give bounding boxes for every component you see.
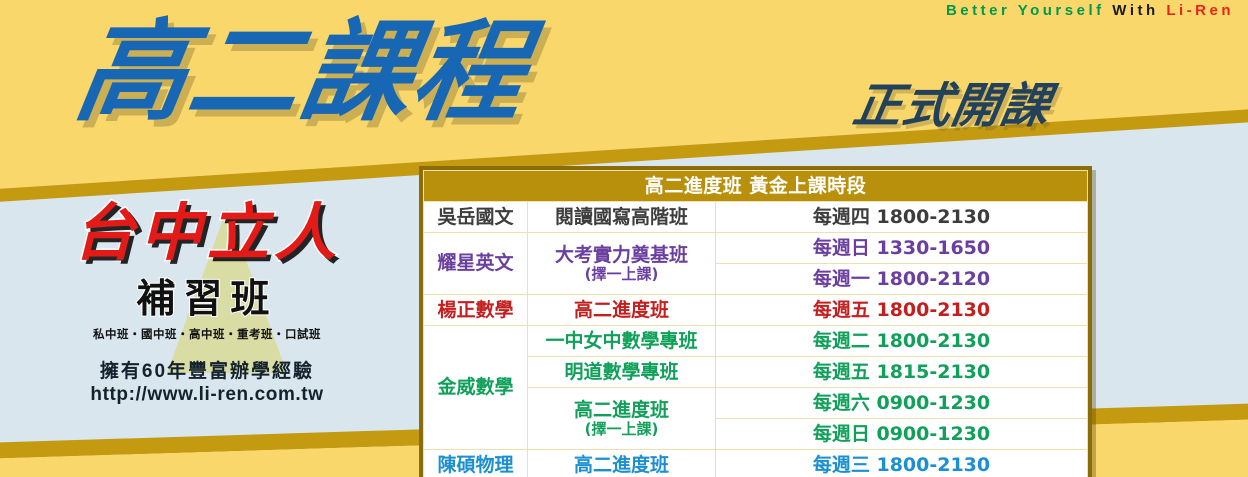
tagline-red-text: Li-Ren (1166, 2, 1234, 19)
schedule-course-cell: 高二進度班 (528, 450, 716, 477)
schedule-course-cell: 明道數學專班 (528, 357, 716, 388)
schedule-course-cell: 閱讀國寫高階班 (528, 202, 716, 233)
schedule-course-cell: 高二進度班 (528, 295, 716, 326)
logo-brand-type: 補習班 (22, 268, 392, 324)
schedule-course-cell: 高二進度班(擇一上課) (528, 388, 716, 450)
schedule-header-row: 高二進度班 黃金上課時段 (424, 171, 1088, 202)
schedule-time-cell: 每週五 1815-2130 (716, 357, 1088, 388)
tagline-black-text: With (1112, 2, 1158, 19)
schedule-table-body: 高二進度班 黃金上課時段吳岳國文閱讀國寫高階班每週四 1800-2130耀星英文… (424, 171, 1088, 477)
schedule-time-cell: 每週三 1800-2130 (716, 450, 1088, 477)
tagline-green-text: Better Yourself (946, 2, 1105, 19)
schedule-time-cell: 每週日 0900-1230 (716, 419, 1088, 450)
schedule-teacher-cell: 楊正數學 (424, 295, 528, 326)
poster-canvas: Better Yourself With Li-Ren 高二課程 正式開課 台中… (0, 0, 1248, 477)
table-row: 楊正數學高二進度班每週五 1800-2130 (424, 295, 1088, 326)
schedule-time-cell: 每週二 1800-2130 (716, 326, 1088, 357)
schedule-course-note: (擇一上課) (528, 421, 715, 437)
schedule-course-cell: 一中女中數學專班 (528, 326, 716, 357)
schedule-teacher-cell: 陳碩物理 (424, 450, 528, 477)
schedule-time-cell: 每週五 1800-2130 (716, 295, 1088, 326)
page-title: 高二課程 (69, 13, 536, 132)
schedule-teacher-cell: 金威數學 (424, 326, 528, 450)
schedule-time-cell: 每週四 1800-2130 (716, 202, 1088, 233)
table-row: 耀星英文大考實力奠基班(擇一上課)每週日 1330-1650 (424, 233, 1088, 264)
logo-class-list: 私中班・國中班・高中班・重考班・口試班 (22, 326, 392, 342)
schedule-teacher-cell: 吳岳國文 (424, 202, 528, 233)
logo-experience-text: 擁有60年豐富辦學經驗 (22, 356, 392, 383)
schedule-course-note: (擇一上課) (528, 266, 715, 282)
schedule-table: 高二進度班 黃金上課時段吳岳國文閱讀國寫高階班每週四 1800-2130耀星英文… (423, 170, 1088, 477)
page-subtitle: 正式開課 (849, 66, 1057, 136)
tagline: Better Yourself With Li-Ren (946, 2, 1234, 19)
schedule-time-cell: 每週六 0900-1230 (716, 388, 1088, 419)
table-row: 陳碩物理高二進度班每週三 1800-2130 (424, 450, 1088, 477)
schedule-teacher-cell: 耀星英文 (424, 233, 528, 295)
logo-brand-name: 台中立人 (22, 202, 392, 264)
schedule-header-cell: 高二進度班 黃金上課時段 (424, 171, 1088, 202)
schedule-table-container: 高二進度班 黃金上課時段吳岳國文閱讀國寫高階班每週四 1800-2130耀星英文… (419, 166, 1092, 477)
table-row: 金威數學一中女中數學專班每週二 1800-2130 (424, 326, 1088, 357)
logo-website-url[interactable]: http://www.li-ren.com.tw (22, 384, 392, 406)
schedule-course-cell: 大考實力奠基班(擇一上課) (528, 233, 716, 295)
schedule-time-cell: 每週一 1800-2120 (716, 264, 1088, 295)
logo: 台中立人 補習班 私中班・國中班・高中班・重考班・口試班 擁有60年豐富辦學經驗… (22, 196, 392, 406)
table-row: 吳岳國文閱讀國寫高階班每週四 1800-2130 (424, 202, 1088, 233)
schedule-time-cell: 每週日 1330-1650 (716, 233, 1088, 264)
